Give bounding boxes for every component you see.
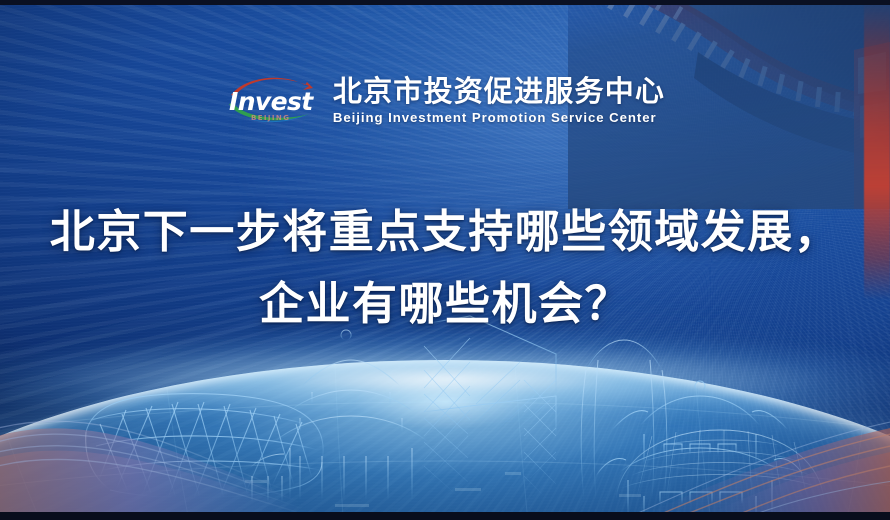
headline-line-1: 北京下一步将重点支持哪些领域发展， xyxy=(18,196,872,268)
org-name-en: Beijing Investment Promotion Service Cen… xyxy=(333,110,665,126)
letterbox-bottom xyxy=(0,512,890,520)
title-card: Invest BEIJING 北京市投资促进服务中心 Beijing Inves… xyxy=(0,0,890,520)
svg-text:BEIJING: BEIJING xyxy=(251,114,290,122)
org-name-cn: 北京市投资促进服务中心 xyxy=(333,75,665,108)
invest-swoosh-icon: Invest BEIJING xyxy=(225,74,321,126)
headline: 北京下一步将重点支持哪些领域发展， 企业有哪些机会？ xyxy=(0,196,890,340)
letterbox-top xyxy=(0,0,890,5)
headline-line-2: 企业有哪些机会？ xyxy=(18,268,872,340)
brand-lockup: Invest BEIJING 北京市投资促进服务中心 Beijing Inves… xyxy=(0,74,890,126)
svg-text:Invest: Invest xyxy=(229,87,314,116)
